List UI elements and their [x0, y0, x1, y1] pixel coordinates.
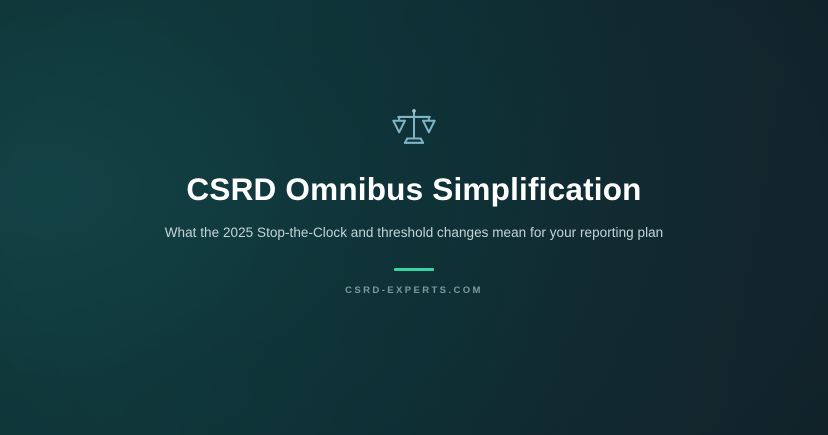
- brand-label: CSRD-EXPERTS.COM: [0, 285, 828, 296]
- accent-divider: [394, 268, 434, 271]
- scales-of-justice-icon: [391, 104, 437, 150]
- title-slide: CSRD Omnibus Simplification What the 202…: [0, 0, 828, 435]
- page-title: CSRD Omnibus Simplification: [0, 172, 828, 207]
- page-subtitle: What the 2025 Stop-the-Clock and thresho…: [0, 224, 828, 243]
- hero-block: CSRD Omnibus Simplification What the 202…: [0, 104, 828, 297]
